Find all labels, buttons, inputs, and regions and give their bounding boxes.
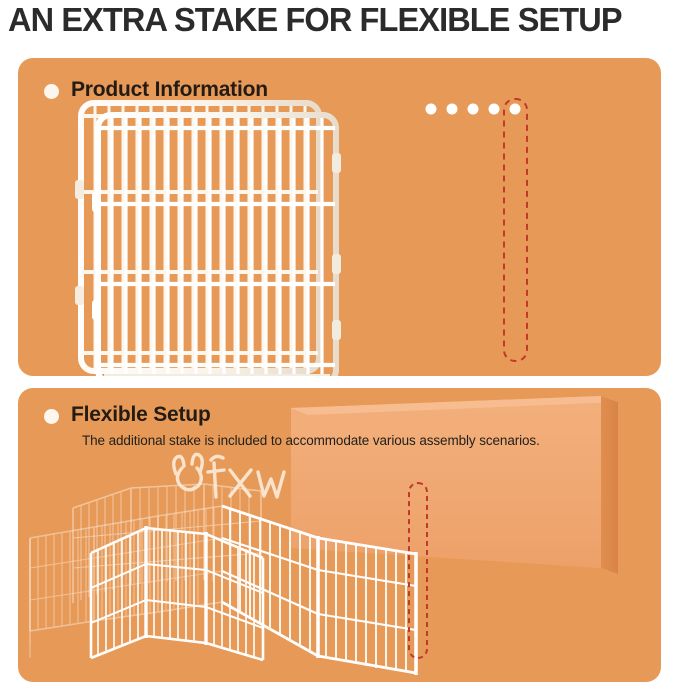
page-title: AN EXTRA STAKE FOR FLEXIBLE SETUP	[8, 2, 666, 38]
product-information-panel: Product Information	[18, 58, 661, 376]
wall-face	[291, 396, 601, 568]
flexible-setup-heading: Flexible Setup	[71, 403, 211, 427]
product-information-heading: Product Information	[71, 78, 268, 102]
flexible-setup-panel: Flexible Setup The additional stake is i…	[18, 388, 661, 682]
product-information-illustration	[18, 58, 661, 376]
bullet-dot-icon	[44, 409, 59, 424]
product-information-heading-group: Product Information	[44, 78, 268, 102]
fence-panel-back	[75, 103, 319, 371]
stake-3	[468, 104, 479, 349]
wall-stake-highlight	[409, 483, 427, 658]
flexible-setup-heading-group: Flexible Setup	[44, 403, 211, 427]
stake-2	[447, 104, 458, 349]
bullet-dot-icon	[44, 84, 59, 99]
stake-1	[426, 104, 437, 349]
fxw-watermark	[174, 454, 284, 497]
ground-stake-set	[426, 99, 528, 361]
wall-right-edge	[601, 396, 618, 574]
fence-panel-front	[92, 115, 341, 376]
stake-4	[489, 104, 500, 349]
wall-top-edge	[291, 396, 618, 415]
stake-5-highlighted	[510, 104, 521, 349]
flexible-setup-subtitle: The additional stake is included to acco…	[82, 432, 540, 450]
extra-stake-highlight	[504, 99, 527, 361]
octagonal-playpen	[73, 484, 263, 660]
